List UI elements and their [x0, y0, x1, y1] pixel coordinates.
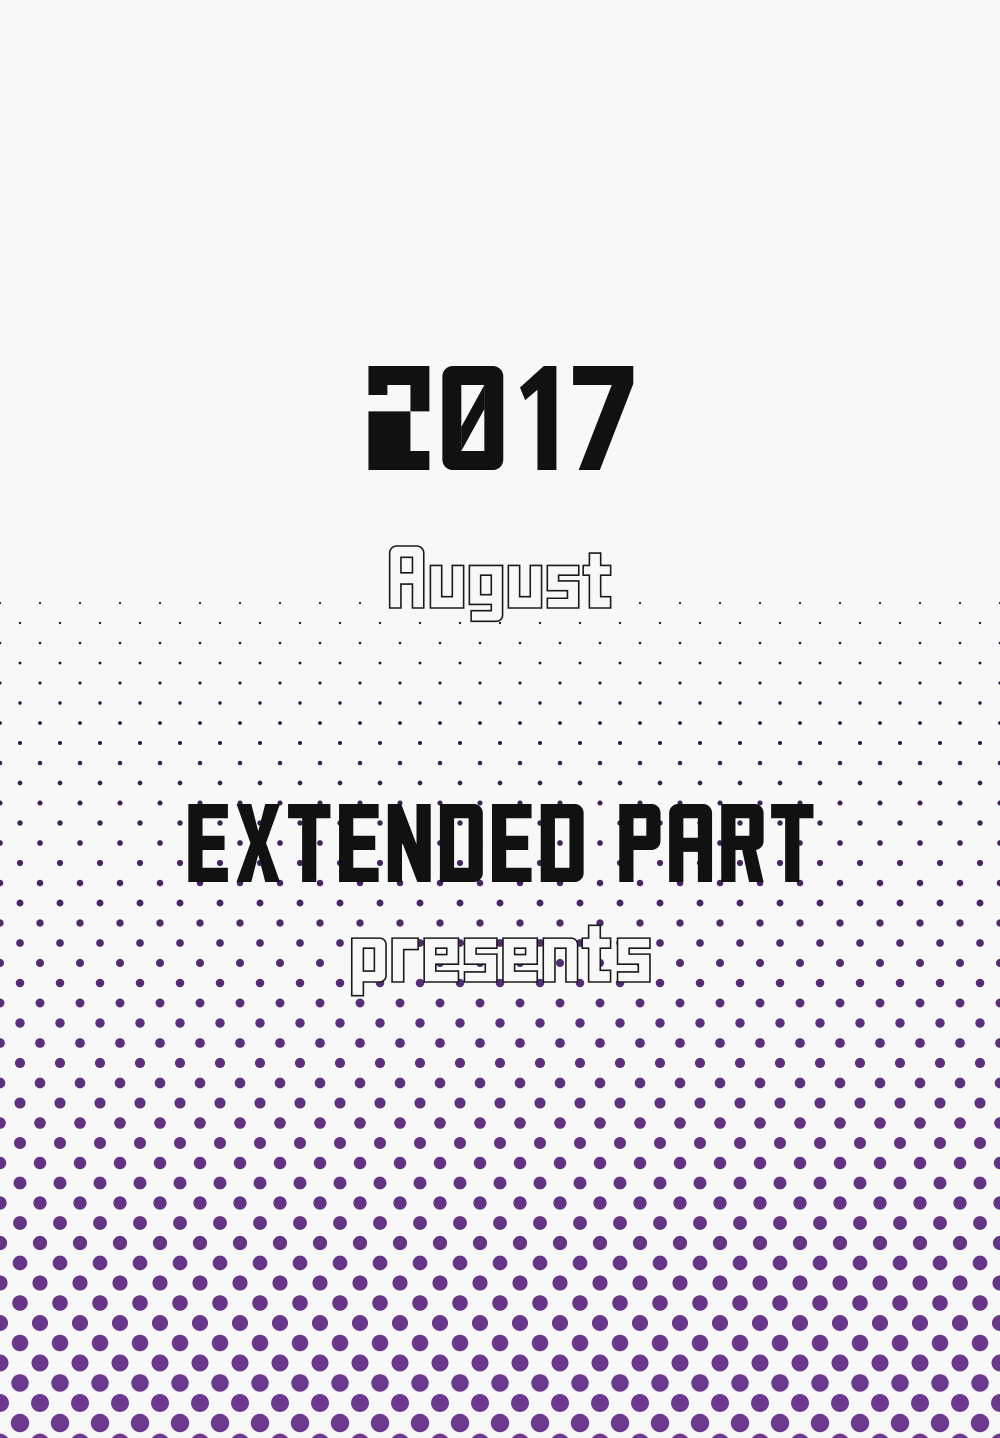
month-text — [0, 542, 1000, 626]
halftone-dot-pattern — [0, 0, 1000, 1438]
circle-name-text — [0, 800, 1000, 886]
cover-page — [0, 0, 1000, 1438]
year-text — [0, 362, 1000, 474]
presents-text — [0, 914, 1000, 1000]
